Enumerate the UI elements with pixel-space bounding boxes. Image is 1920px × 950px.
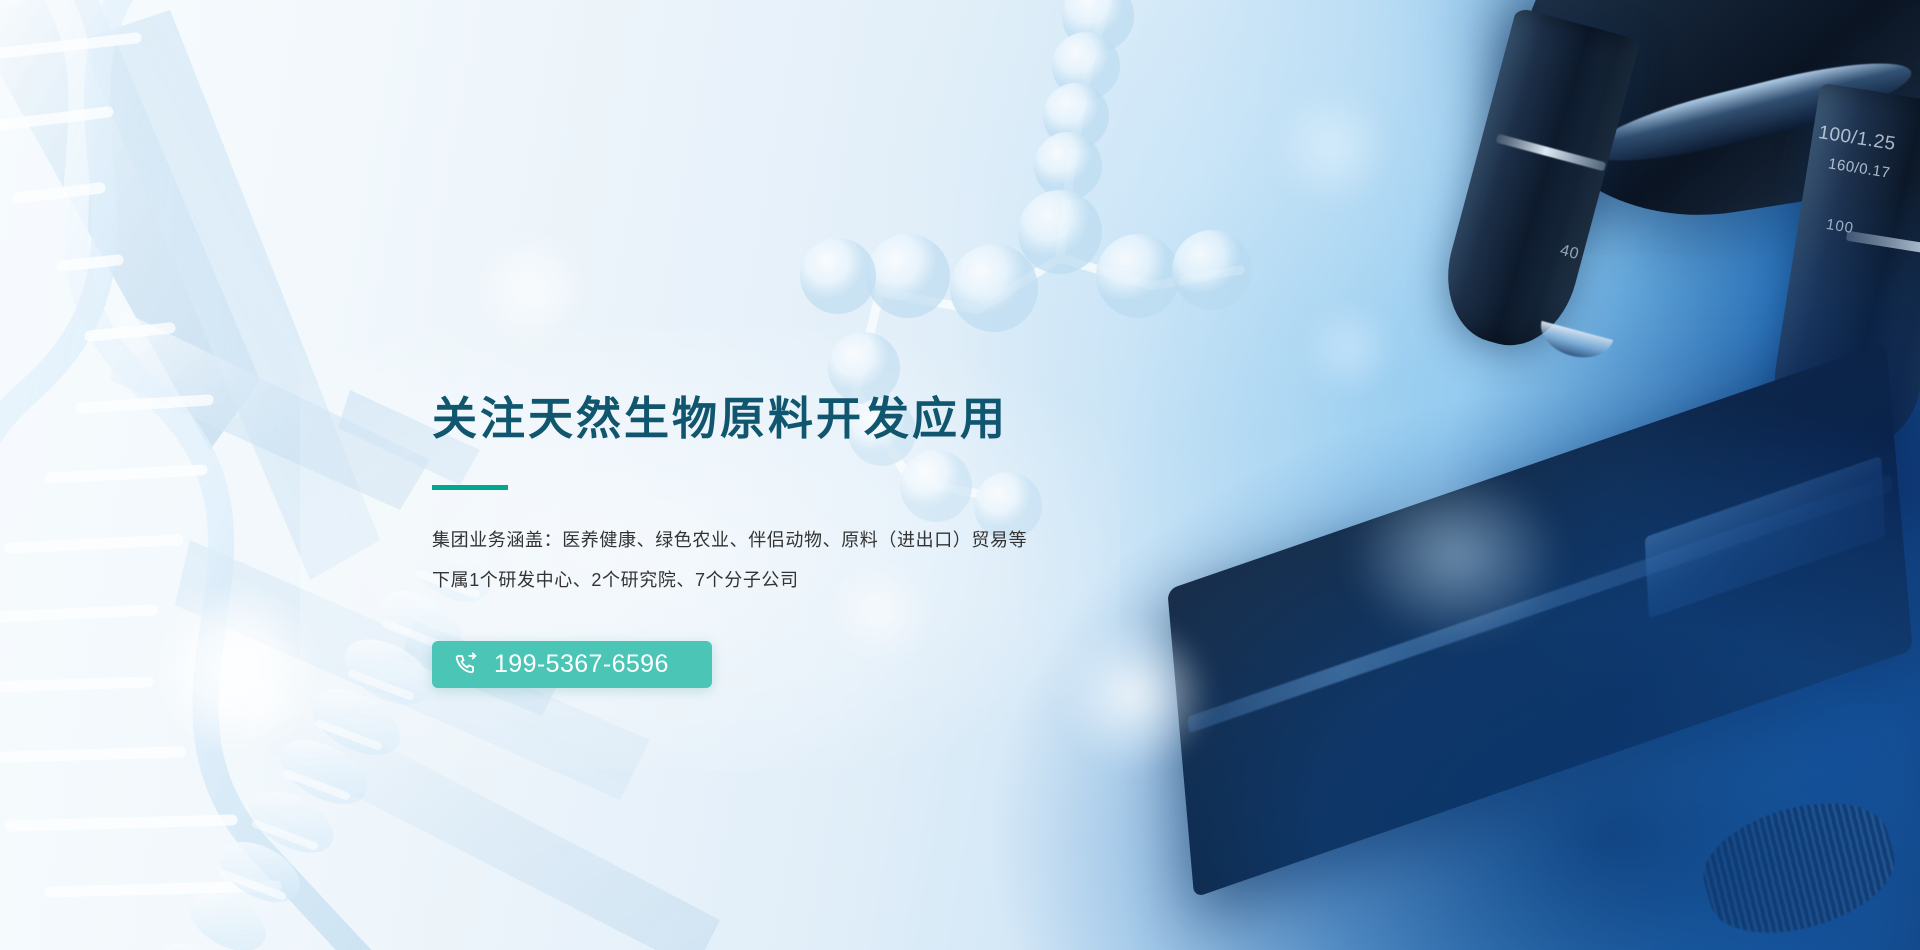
page-title: 关注天然生物原料开发应用 [432, 392, 1332, 445]
hero-description: 集团业务涵盖：医养健康、绿色农业、伴侣动物、原料（进出口）贸易等 下属1个研发中… [432, 520, 1332, 600]
microscope-focus-knob [1691, 784, 1907, 950]
hero-description-line-2: 下属1个研发中心、2个研究院、7个分子公司 [432, 560, 1332, 600]
phone-call-button[interactable]: 199-5367-6596 [432, 641, 712, 688]
phone-forward-icon [454, 652, 480, 678]
phone-number-label: 199-5367-6596 [494, 652, 669, 677]
microscope-objective-primary-lens-tip [1535, 321, 1613, 365]
hero-banner: 40 100/1.25 160/0.17 100 关注天然生物原料开发应用 集团… [0, 0, 1920, 950]
hero-content: 关注天然生物原料开发应用 集团业务涵盖：医养健康、绿色农业、伴侣动物、原料（进出… [432, 392, 1332, 688]
title-divider-rule [432, 485, 508, 490]
hero-description-line-1: 集团业务涵盖：医养健康、绿色农业、伴侣动物、原料（进出口）贸易等 [432, 520, 1332, 560]
